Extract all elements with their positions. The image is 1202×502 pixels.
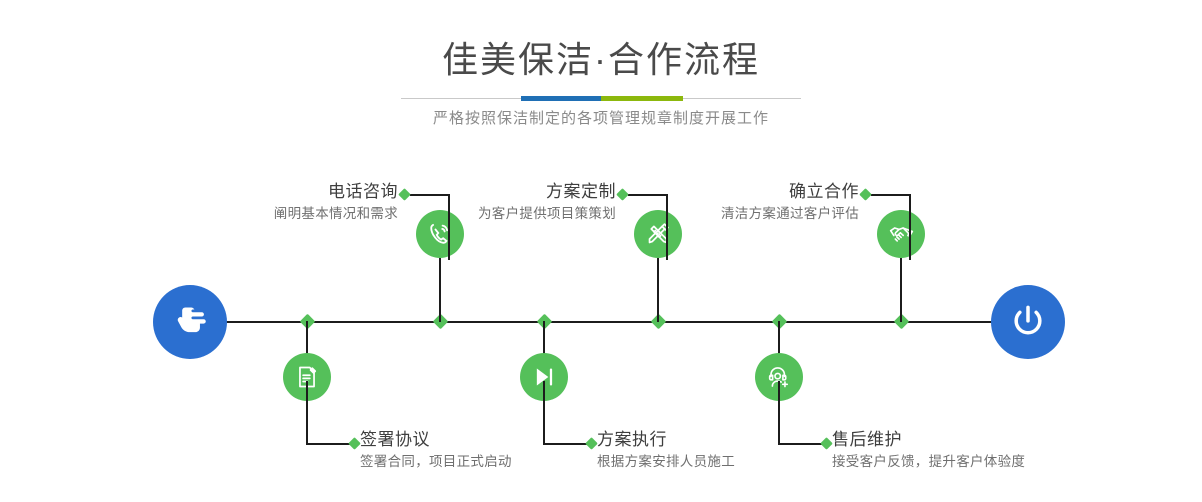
power-icon (1008, 302, 1048, 342)
divider-segment-green (601, 96, 683, 101)
timeline-end-endpoint (991, 285, 1065, 359)
timeline-stem-5 (900, 258, 902, 322)
callout-line-h-5 (871, 194, 911, 196)
step-desc-5: 清洁方案通过客户评估 (511, 203, 859, 225)
step-label-5: 确立合作 清洁方案通过客户评估 (511, 181, 859, 225)
timeline-stem-1 (439, 258, 441, 322)
step-label-2: 签署协议 签署合同，项目正式启动 (360, 429, 512, 473)
process-timeline: 电话咨询 阐明基本情况和需求 签署协议 签署合同，项目正式启动 (0, 150, 1202, 502)
callout-line-v-4 (543, 381, 545, 445)
step-title-2: 签署协议 (360, 429, 512, 451)
callout-line-h-6 (778, 443, 824, 445)
step-title-6: 售后维护 (832, 429, 1025, 451)
callout-dot-4 (585, 437, 598, 450)
callout-line-v-5 (909, 194, 911, 260)
page-subtitle: 严格按照保洁制定的各项管理规章制度开展工作 (0, 108, 1202, 130)
step-title-4: 方案执行 (597, 429, 735, 451)
pointing-hand-icon (170, 302, 210, 342)
title-divider (401, 96, 801, 101)
callout-line-h-4 (543, 443, 589, 445)
step-desc-6: 接受客户反馈，提升客户体验度 (832, 451, 1025, 473)
page-title: 佳美保洁·合作流程 (0, 38, 1202, 82)
timeline-start-endpoint (153, 285, 227, 359)
timeline-stem-3 (657, 258, 659, 322)
step-desc-2: 签署合同，项目正式启动 (360, 451, 512, 473)
step-icon-bubble-5[interactable] (877, 210, 925, 258)
step-label-4: 方案执行 根据方案安排人员施工 (597, 429, 735, 473)
header: 佳美保洁·合作流程 严格按照保洁制定的各项管理规章制度开展工作 (0, 0, 1202, 150)
callout-line-v-6 (778, 381, 780, 445)
callout-dot-5 (859, 188, 872, 201)
step-label-6: 售后维护 接受客户反馈，提升客户体验度 (832, 429, 1025, 473)
callout-dot-2 (348, 437, 361, 450)
divider-segment-blue (521, 96, 601, 101)
callout-dot-6 (820, 437, 833, 450)
callout-line-h-2 (306, 443, 352, 445)
step-desc-4: 根据方案安排人员施工 (597, 451, 735, 473)
step-title-5: 确立合作 (511, 181, 859, 203)
callout-line-v-2 (306, 381, 308, 445)
